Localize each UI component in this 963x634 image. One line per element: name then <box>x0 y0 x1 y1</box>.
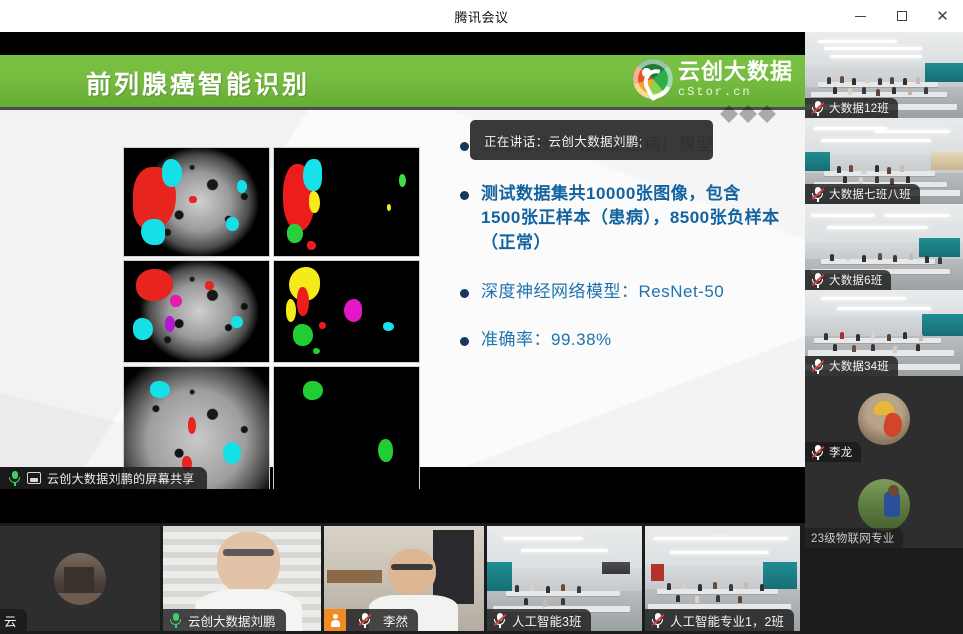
window-title: 腾讯会议 <box>454 7 508 26</box>
slide-title: 前列腺癌智能识别 <box>86 65 310 101</box>
microphone-icon <box>8 471 21 486</box>
company-logo: 云创大数据 cStor.cn <box>633 59 793 99</box>
title-bar: 腾讯会议 ✕ <box>0 0 963 32</box>
participant-tile-yunchuangdashujuliupeng[interactable]: 云创大数据刘鹏 <box>163 526 321 631</box>
screen-share-owner-name: 云创大数据刘鹏的屏幕共享 <box>47 470 195 487</box>
microphone-muted-icon <box>651 613 664 628</box>
participant-tile-daishuju34ban[interactable]: 大数据34班 <box>805 290 963 376</box>
microphone-muted-icon <box>358 613 371 628</box>
participant-label: 23级物联网专业 <box>805 528 903 548</box>
microphone-muted-icon <box>811 445 824 460</box>
maximize-icon <box>897 11 907 21</box>
prostate-slice-2-mask <box>273 260 420 363</box>
bullet-text: 测试数据集共10000张图像，包含1500张正样本（患病），8500张负样本（正… <box>481 182 780 256</box>
glasses <box>391 564 433 570</box>
prostate-slice-1-mask <box>273 147 420 257</box>
participant-label: 李然 <box>324 609 418 631</box>
participant-name: 李龙 <box>829 444 852 460</box>
close-button[interactable]: ✕ <box>922 0 963 32</box>
participant-name: 人工智能3班 <box>512 611 581 630</box>
participant-tile-lilong[interactable]: 李龙 <box>805 376 963 462</box>
speaking-now-toast: 正在讲话：云创大数据刘鹏; <box>470 120 713 160</box>
slide-bullet-list: 训练二分类（正常/患病）模型 测试数据集共10000张图像，包含1500张正样本… <box>460 133 780 377</box>
logo-text-cn: 云创大数据 <box>678 61 793 83</box>
host-badge-icon <box>324 609 346 631</box>
shared-screen-stage[interactable]: 前列腺癌智能识别 云创大数据 cStor.cn <box>0 32 805 489</box>
participant-tile-yun[interactable]: 云 <box>0 526 160 631</box>
slide-banner: 前列腺癌智能识别 云创大数据 cStor.cn <box>0 55 805 110</box>
speaker-face <box>217 532 280 595</box>
prostate-slice-3-mask <box>273 366 420 489</box>
participant-label: 大数据34班 <box>805 356 898 376</box>
avatar <box>858 393 910 445</box>
microphone-icon <box>169 613 182 628</box>
avatar <box>54 553 106 605</box>
participant-label: 大数据七班八班 <box>805 184 920 204</box>
participant-tile-rengongzhinengzhuanye12ban[interactable]: 人工智能专业1，2班 <box>645 526 800 631</box>
participant-name: 云 <box>4 611 17 630</box>
maximize-button[interactable] <box>881 0 922 32</box>
bullet-item: 测试数据集共10000张图像，包含1500张正样本（患病），8500张负样本（正… <box>460 182 780 256</box>
participant-label: 大数据6班 <box>805 270 891 290</box>
speaker-glasses <box>223 549 274 556</box>
diamond-decoration-icon <box>719 103 777 125</box>
bullet-item: 深度神经网络模型：ResNet-50 <box>460 280 780 305</box>
logo-text-en: cStor.cn <box>678 86 793 98</box>
participant-tile-daishuju6ban[interactable]: 大数据6班 <box>805 204 963 290</box>
bullet-dot-icon <box>460 191 469 200</box>
bullet-dot-icon <box>460 142 469 151</box>
participant-tile-23jiwulianwangzhuanye[interactable]: 23级物联网专业 <box>805 462 963 548</box>
bullet-text: 准确率：99.38% <box>481 328 612 353</box>
participant-filmstrip-right[interactable]: 大数据12班 <box>805 32 963 634</box>
participant-name: 大数据6班 <box>829 272 882 288</box>
desk <box>327 570 381 583</box>
bullet-dot-icon <box>460 289 469 298</box>
image-panel-row-2 <box>123 260 420 363</box>
minimize-icon <box>855 16 866 17</box>
participant-label: 大数据12班 <box>805 98 898 118</box>
prostate-slice-1-overlay <box>123 147 270 257</box>
participant-filmstrip-bottom[interactable]: 云 云创大数据刘鹏 <box>0 523 805 634</box>
bullet-item: 准确率：99.38% <box>460 328 780 353</box>
microphone-muted-icon <box>493 613 506 628</box>
slide-image-grid <box>123 147 420 489</box>
participant-name: 云创大数据刘鹏 <box>188 611 276 630</box>
minimize-button[interactable] <box>840 0 881 32</box>
cabinet <box>433 530 475 604</box>
speaking-now-text: 正在讲话：云创大数据刘鹏; <box>484 131 643 150</box>
participant-name: 大数据七班八班 <box>829 186 911 202</box>
participant-label: 云创大数据刘鹏 <box>163 609 286 631</box>
microphone-muted-icon <box>811 273 824 288</box>
participant-label: 云 <box>0 609 27 631</box>
participant-tile-daishujuqibanbaban[interactable]: 大数据七班八班 <box>805 118 963 204</box>
screen-share-icon <box>27 472 41 484</box>
close-icon: ✕ <box>936 9 949 24</box>
window-controls: ✕ <box>840 0 963 32</box>
prostate-slice-2-overlay <box>123 260 270 363</box>
cstor-swirl-icon <box>633 59 673 99</box>
participant-tile-rengongzhineng3ban[interactable]: 人工智能3班 <box>487 526 642 631</box>
participant-label: 人工智能专业1，2班 <box>645 609 794 631</box>
participant-tile-liran[interactable]: 李然 <box>324 526 484 631</box>
microphone-muted-icon <box>811 187 824 202</box>
avatar <box>858 479 910 531</box>
tencent-meeting-window: 腾讯会议 ✕ 前列腺癌智能识别 云创大数据 cStor.cn <box>0 0 963 634</box>
microphone-muted-icon <box>811 101 824 116</box>
participant-name: 大数据12班 <box>829 100 889 116</box>
screen-share-owner-label: 云创大数据刘鹏的屏幕共享 <box>0 467 207 489</box>
microphone-muted-icon <box>811 359 824 374</box>
participant-name: 大数据34班 <box>829 358 889 374</box>
person-face <box>388 549 436 595</box>
image-panel-row-1 <box>123 147 420 257</box>
participant-name: 人工智能专业1，2班 <box>670 611 784 630</box>
participant-name: 李然 <box>383 611 408 630</box>
participant-label: 李龙 <box>805 442 861 462</box>
bullet-text: 深度神经网络模型：ResNet-50 <box>481 280 724 305</box>
presentation-slide: 前列腺癌智能识别 云创大数据 cStor.cn <box>0 55 805 467</box>
participant-tile-daishuju12ban[interactable]: 大数据12班 <box>805 32 963 118</box>
bullet-dot-icon <box>460 337 469 346</box>
participant-label: 人工智能3班 <box>487 609 591 631</box>
participant-name: 23级物联网专业 <box>811 530 894 546</box>
